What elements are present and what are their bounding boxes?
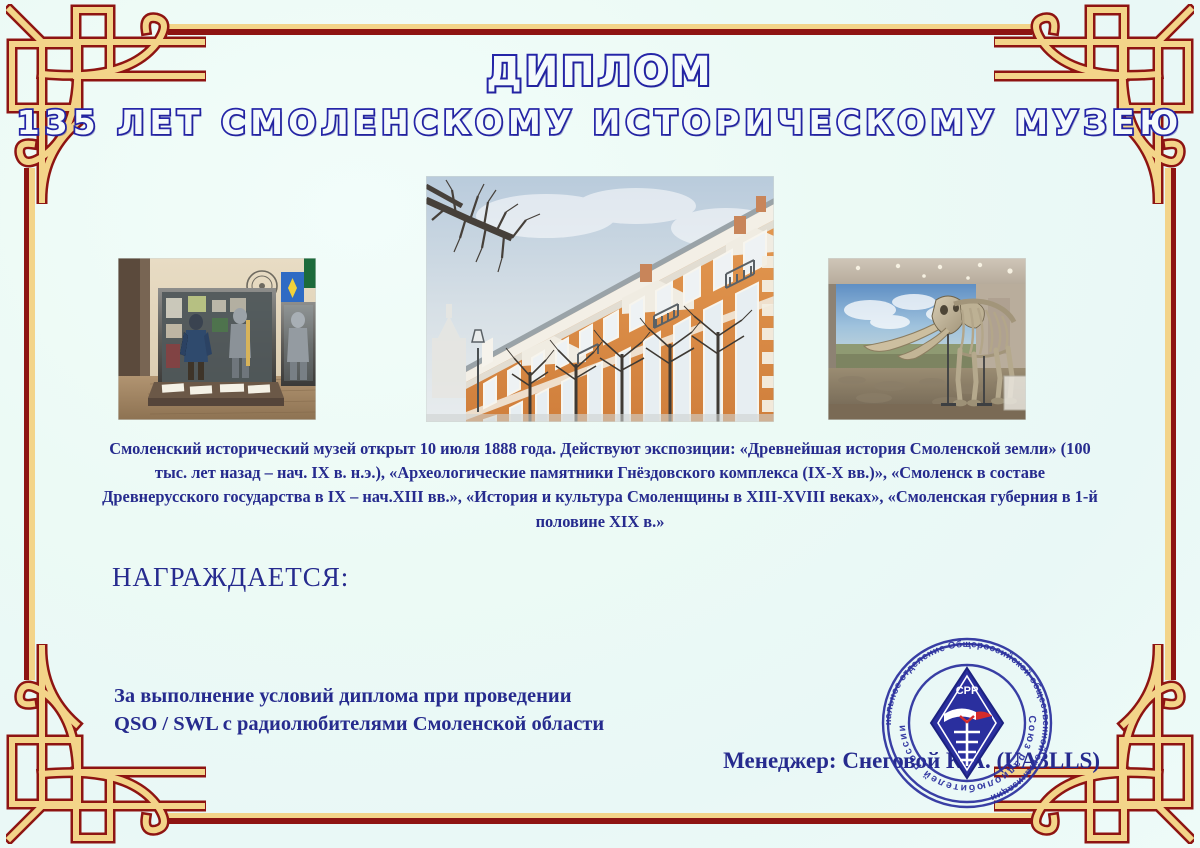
- seal-emblem-letters: СРР: [956, 685, 979, 697]
- condition-text: За выполнение условий диплома при провед…: [114, 682, 604, 738]
- condition-line-1: За выполнение условий диплома при провед…: [114, 682, 604, 710]
- page-subtitle: 135 ЛЕТ СМОЛЕНСКОМУ ИСТОРИЧЕСКОМУ МУЗЕЮ: [0, 106, 1200, 139]
- photo-museum-armor-exhibit: [118, 258, 316, 420]
- border-band-right: [1165, 168, 1176, 680]
- official-seal: Смоленское региональное отделение Общеро…: [872, 628, 1062, 818]
- title-block: ДИПЛОМ 135 ЛЕТ СМОЛЕНСКОМУ ИСТОРИЧЕСКОМУ…: [0, 52, 1200, 139]
- page-title: ДИПЛОМ: [0, 52, 1200, 92]
- corner-ornament-bottom-left: [6, 644, 206, 844]
- border-band-top: [168, 24, 1032, 35]
- diploma-page: ДИПЛОМ 135 ЛЕТ СМОЛЕНСКОМУ ИСТОРИЧЕСКОМУ…: [0, 0, 1200, 848]
- awarded-label: НАГРАЖДАЕТСЯ:: [112, 562, 349, 593]
- photo-mammoth-skeleton: [828, 258, 1026, 420]
- photo-museum-building: [426, 176, 774, 422]
- border-band-left: [24, 168, 35, 680]
- description-paragraph: Смоленский исторический музей открыт 10 …: [96, 437, 1104, 534]
- condition-line-2: QSO / SWL с радиолюбителями Смоленской о…: [114, 710, 604, 738]
